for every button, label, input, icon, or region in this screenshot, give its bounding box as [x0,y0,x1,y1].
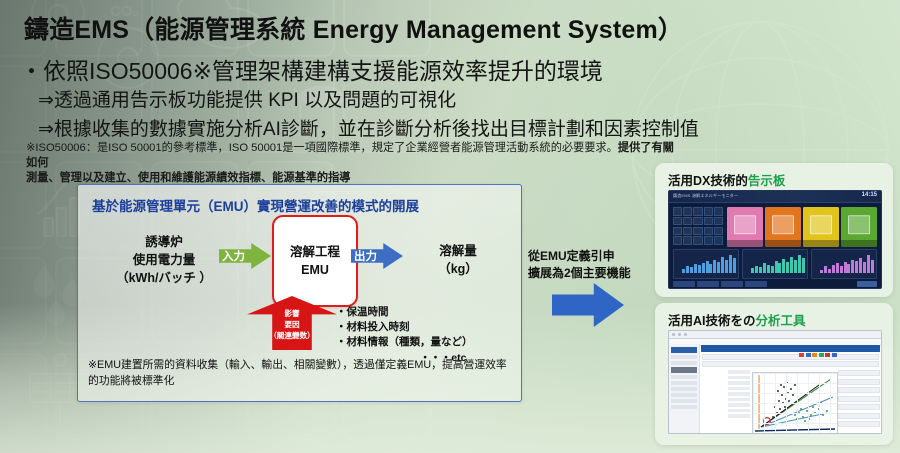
machine-icon [848,215,870,235]
bar [782,259,785,273]
status-cell [673,227,682,236]
status-cell [673,207,682,216]
control-field[interactable] [728,376,750,380]
diagram-output-label: 溶解量 （kg） [410,243,506,279]
bar [855,261,858,273]
window-dot-icon [678,333,681,336]
control-field[interactable] [728,409,750,413]
status-cell [714,227,723,236]
dashboard-bar-chart [673,249,739,279]
bar-group [820,255,874,273]
sidebar-item[interactable] [671,405,697,409]
footnote-line-1: ※ISO50006：是ISO 50001的參考標準，ISO 50001是一項國際… [26,142,618,154]
control-field[interactable] [838,396,880,402]
input-arrow-label: 入力 [222,248,245,264]
factor-bullet-1: ・保温時間 [336,305,473,320]
bar-group [751,255,805,273]
factor-bullet-3: ・材料情報（種類，量など） [336,335,473,350]
bar [709,264,712,273]
dashboard-footer-button[interactable] [721,281,743,287]
control-field[interactable] [728,403,750,407]
control-field[interactable] [838,379,880,385]
influence-line-3: （關連變数） [247,331,337,342]
legend-swatch [819,353,824,357]
connector-arrow-shape [552,283,624,327]
status-cell [693,207,702,216]
card-dashboard-title-accent: 告示板 [748,174,786,188]
sidebar-item[interactable] [671,387,697,391]
bar [767,265,770,273]
machine-icon [772,215,794,235]
output-label-line-2: （kg） [410,261,506,279]
bullet-line-2: ⇒根據收集的數據實施分析AI診斷，並在診斷分析後找出目標計劃和因素控制值 [38,114,699,141]
card-dashboard[interactable]: 活用DX技術的告示板 鑄造EMS 溶解エネルギーモニター 14:15 [655,163,893,297]
window-dot-icon [684,333,687,336]
dashboard-footer-button[interactable] [673,281,695,287]
input-label-line-2: 使用電力量 [110,252,218,270]
plot-gridlines [753,373,837,434]
status-cell [683,236,692,245]
control-field[interactable] [838,404,880,410]
control-field[interactable] [728,414,750,418]
legend-swatch [832,353,837,357]
status-cell [683,207,692,216]
status-cell [673,236,682,245]
dashboard-footer-buttons[interactable] [673,281,767,287]
output-arrow: 出力 [351,243,403,269]
machine-tile[interactable] [841,207,877,247]
control-field[interactable] [728,392,750,396]
machine-tile[interactable] [727,207,763,247]
card-analysis-title-prefix: 活用AI技術をの [668,314,756,328]
connector-text: 從EMU定義引申 擴展為2個主要機能 [528,248,631,283]
bar [824,266,827,273]
dashboard-bar-chart [742,249,808,279]
dashboard-screenshot[interactable]: 鑄造EMS 溶解エネルギーモニター 14:15 [668,190,882,289]
card-analysis-title: 活用AI技術をの分析工具 [668,310,806,329]
dashboard-bar-chart [811,249,877,279]
connector-arrow [552,283,624,327]
card-analysis-title-accent: 分析工具 [756,314,806,328]
input-arrow: 入力 [219,243,271,269]
control-field[interactable] [838,421,880,427]
dashboard-header: 鑄造EMS 溶解エネルギーモニター 14:15 [669,191,881,203]
dashboard-status-grid [673,207,723,245]
control-field[interactable] [838,413,880,419]
analysis-sidebar[interactable] [669,344,700,433]
connector-line-1: 從EMU定義引申 [528,248,631,265]
output-arrow-label: 出力 [354,248,377,264]
connector-line-2: 擴展為2個主要機能 [528,265,631,282]
sidebar-item[interactable] [671,361,697,365]
bar [778,263,781,273]
browser-chrome [669,331,881,339]
bar [844,262,847,273]
emu-box-line-2: EMU [301,261,329,279]
bar [729,255,732,273]
machine-caption [727,240,763,247]
bar [859,258,862,273]
analysis-left-controls[interactable] [728,370,750,431]
bar [851,260,854,274]
status-cell [714,207,723,216]
footnote: ※ISO50006：是ISO 50001的參考標準，ISO 50001是一項國際… [26,141,678,186]
bar [725,260,728,274]
dashboard-charts [673,249,877,279]
analysis-filter-row[interactable] [702,361,879,367]
bar [871,260,874,274]
bar [702,263,705,273]
analysis-body [669,344,881,433]
bar [759,267,762,273]
bar [698,265,701,273]
analysis-title-bar [701,345,880,352]
legend-swatch [806,353,811,357]
slide-root: CO₂ WORLD RECYCLE 2050 [0,0,900,453]
sidebar-item[interactable] [671,393,697,397]
bar [721,257,724,273]
bar [798,255,801,273]
bar [763,263,766,273]
dashboard-machine-tiles [727,207,877,247]
bar [706,261,709,273]
sidebar-item[interactable] [671,375,697,379]
bar [840,266,843,273]
control-field[interactable] [728,381,750,385]
bar [863,262,866,273]
sidebar-header [671,347,697,353]
bar [686,266,689,273]
bar [751,268,754,273]
input-label-line-3: （kWh/バッチ ） [110,270,218,288]
status-cell [714,236,723,245]
scatter-plot[interactable] [752,372,838,434]
dashboard-header-text: 鑄造EMS 溶解エネルギーモニター [673,193,738,199]
status-cell [683,217,692,226]
bar-group [682,255,736,273]
influence-line-2: 要因 [247,320,337,331]
machine-caption [803,240,839,247]
card-analysis[interactable]: 活用AI技術をの分析工具 [655,303,893,445]
machine-tile[interactable] [765,207,801,247]
legend-swatch [812,353,817,357]
bar [694,264,697,273]
sidebar-item[interactable] [671,355,697,359]
control-field[interactable] [838,387,880,393]
footnote-line-2: 測量、管理以及建立、使用和維護能源績效指標、能源基準的指導 [26,172,350,184]
bar [847,264,850,273]
influence-line-1: 影響 [247,309,337,320]
bar [802,258,805,273]
analysis-tool-screenshot[interactable] [668,330,882,434]
machine-icon [810,215,832,235]
bullet-line-1: ⇒透過通用告示板功能提供 KPI 以及問題的可視化 [38,85,456,112]
factor-bullet-list: ・保温時間 ・材料投入時刻 ・材料情報（種類，量など） ・・・etc [336,305,473,366]
status-cell [693,236,702,245]
bar [867,255,870,273]
status-cell [704,207,713,216]
machine-icon [734,215,756,235]
status-cell [704,217,713,226]
machine-tile[interactable] [803,207,839,247]
status-cell [704,236,713,245]
influence-arrow-text: 影響 要因 （關連變数） [247,309,337,341]
dashboard-footer-button-right[interactable] [857,281,877,287]
control-field[interactable] [838,370,880,376]
bar [713,260,716,274]
analysis-right-controls[interactable] [838,370,880,431]
emu-center-box: 溶解工程 EMU [272,215,358,307]
bar [682,269,685,274]
control-field[interactable] [728,398,750,402]
window-dot-icon [672,333,675,336]
analysis-legend [799,353,863,357]
status-cell [693,227,702,236]
output-label-line-1: 溶解量 [410,243,506,261]
bar [790,257,793,273]
dashboard-clock: 14:15 [862,192,877,198]
bar [717,262,720,273]
factor-bullet-2: ・材料投入時刻 [336,320,473,335]
analysis-main [700,344,881,433]
input-label-line-1: 誘導炉 [110,234,218,252]
legend-swatch [799,353,804,357]
card-dashboard-title: 活用DX技術的告示板 [668,170,785,189]
bar [786,262,789,273]
bar [820,270,823,273]
page-title: 鑄造EMS（能源管理系統 Energy Management System） [24,10,683,46]
machine-caption [765,240,801,247]
dashboard-footer-button[interactable] [697,281,719,287]
sidebar-item[interactable] [671,399,697,403]
diagram-note: ※EMU建置所需的資料收集（輸入、輸出、相關變數），透過僅定義EMU，提高營運效… [88,358,508,390]
bar [755,266,758,273]
legend-swatch [825,353,830,357]
status-cell [683,227,692,236]
status-cell [673,217,682,226]
status-cell [714,217,723,226]
control-field[interactable] [728,387,750,391]
bar [733,258,736,273]
bar [690,267,693,273]
machine-caption [841,240,877,247]
emu-box-line-1: 溶解工程 [290,243,340,261]
status-cell [693,217,702,226]
control-field[interactable] [728,370,750,374]
bar [775,261,778,273]
subtitle: ・依照ISO50006※管理架構建構支援能源效率提升的環境 [20,52,603,86]
card-dashboard-title-prefix: 活用DX技術的 [668,174,748,188]
bar [832,265,835,273]
bar [794,260,797,273]
sidebar-item[interactable] [671,381,697,385]
diagram-input-label: 誘導炉 使用電力量 （kWh/バッチ ） [110,234,218,287]
bar [836,263,839,273]
bar [828,269,831,274]
dashboard-footer-button[interactable] [745,281,767,287]
bar [771,266,774,273]
status-cell [704,227,713,236]
influence-factor-arrow: 影響 要因 （關連變数） [247,296,337,350]
diagram-title: 基於能源管理單元（EMU）實現營運改善的模式的開展 [92,195,419,215]
sidebar-section [671,367,697,373]
